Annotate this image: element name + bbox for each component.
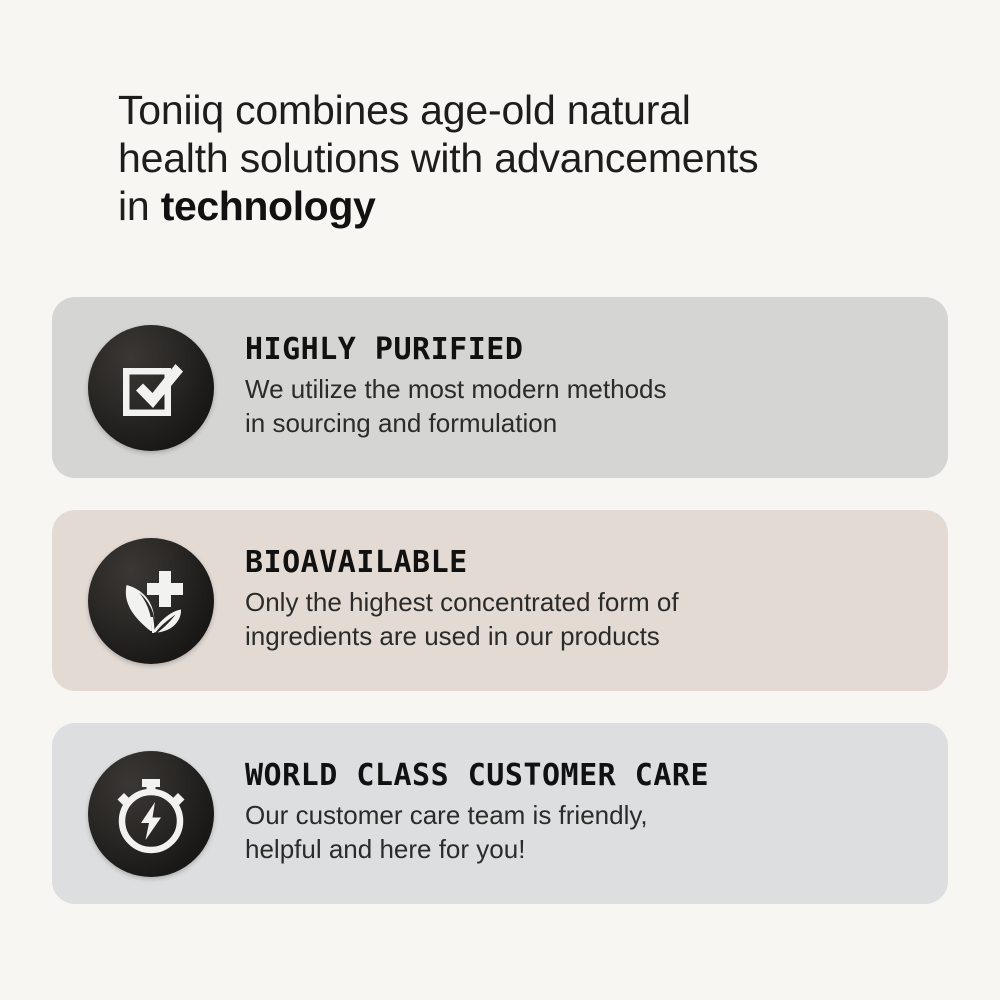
card-description-line-2: ingredients are used in our products	[245, 619, 679, 653]
card-content: WORLD CLASS CUSTOMER CARE Our customer c…	[52, 723, 948, 904]
headline-emphasis-technology: technology	[161, 183, 376, 229]
headline-line-1: Toniiq combines age-old natural	[118, 86, 858, 134]
leaves-plus-icon	[88, 538, 214, 664]
card-title: WORLD CLASS CUSTOMER CARE	[245, 759, 709, 793]
card-description-line-1: Only the highest concentrated form of	[245, 585, 679, 619]
card-description-line-2: helpful and here for you!	[245, 832, 709, 866]
card-content: BIOAVAILABLE Only the highest concentrat…	[52, 510, 948, 691]
feature-card-list: HIGHLY PURIFIED We utilize the most mode…	[52, 297, 948, 904]
card-description: Only the highest concentrated form of in…	[245, 585, 679, 653]
card-text-block: WORLD CLASS CUSTOMER CARE Our customer c…	[245, 759, 709, 868]
feature-card-world-class-customer-care[interactable]: WORLD CLASS CUSTOMER CARE Our customer c…	[52, 723, 948, 904]
card-description-line-1: We utilize the most modern methods	[245, 372, 666, 406]
card-description: We utilize the most modern methods in so…	[245, 372, 666, 440]
card-description-line-1: Our customer care team is friendly,	[245, 798, 709, 832]
feature-card-bioavailable[interactable]: BIOAVAILABLE Only the highest concentrat…	[52, 510, 948, 691]
card-content: HIGHLY PURIFIED We utilize the most mode…	[52, 297, 948, 478]
feature-card-highly-purified[interactable]: HIGHLY PURIFIED We utilize the most mode…	[52, 297, 948, 478]
card-description-line-2: in sourcing and formulation	[245, 406, 666, 440]
page-headline: Toniiq combines age-old natural health s…	[118, 86, 858, 230]
headline-line-3: in technology	[118, 182, 858, 230]
card-title: HIGHLY PURIFIED	[245, 333, 666, 367]
card-text-block: BIOAVAILABLE Only the highest concentrat…	[245, 546, 679, 655]
stopwatch-lightning-icon	[88, 751, 214, 877]
card-title: BIOAVAILABLE	[245, 546, 679, 580]
headline-line-2: health solutions with advancements	[118, 134, 858, 182]
card-text-block: HIGHLY PURIFIED We utilize the most mode…	[245, 333, 666, 442]
checkbox-checkmark-icon	[88, 325, 214, 451]
card-description: Our customer care team is friendly, help…	[245, 798, 709, 866]
headline-line-3-prefix: in	[118, 183, 161, 229]
